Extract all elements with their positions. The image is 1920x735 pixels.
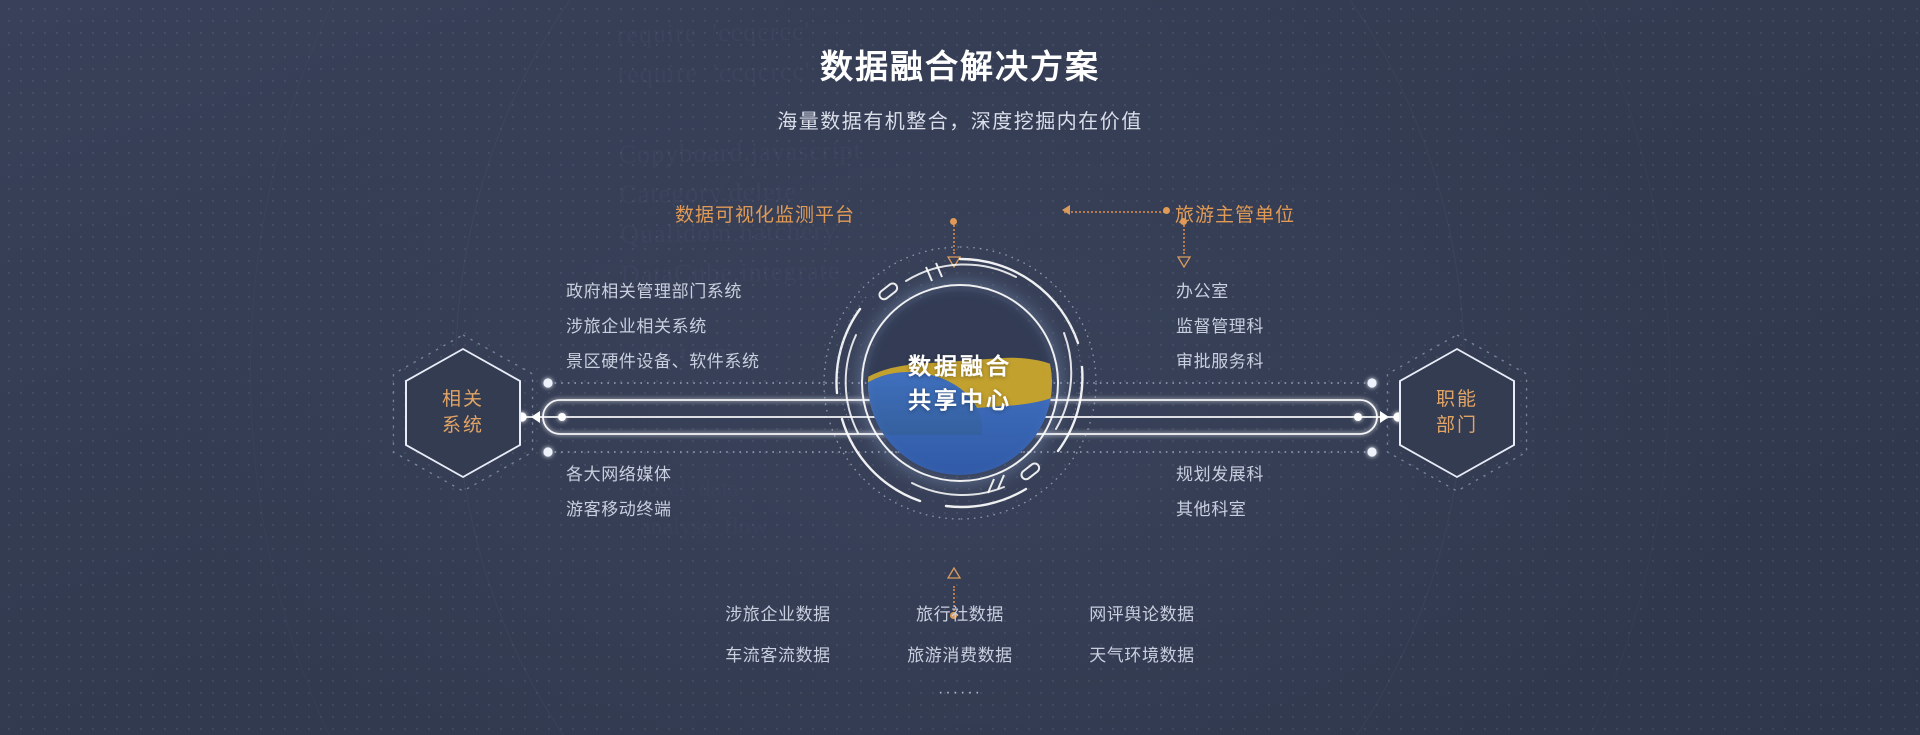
bottom-ellipsis: ······ xyxy=(938,684,982,702)
hexagon-right-line2: 部门 xyxy=(1436,413,1478,439)
bottom-cell-r1c3: 网评舆论数据 xyxy=(1077,600,1207,625)
bottom-cell-r1c2: 旅行社数据 xyxy=(895,600,1025,625)
hexagon-right-label: 职能 部门 xyxy=(1399,348,1515,478)
core-label-line2: 共享中心 xyxy=(908,383,1012,417)
hexagon-left-label: 相关 系统 xyxy=(405,348,521,478)
right-lower-item-2: 其他科室 xyxy=(1176,495,1246,520)
page-subtitle: 海量数据有机整合，深度挖掘内在价值 xyxy=(0,105,1920,134)
hexagon-related-systems[interactable]: 相关 系统 xyxy=(405,348,521,478)
left-upper-item-1: 政府相关管理部门系统 xyxy=(566,277,742,302)
hexagon-functional-departments[interactable]: 职能 部门 xyxy=(1399,348,1515,478)
bottom-cell-r1c1: 涉旅企业数据 xyxy=(713,600,843,625)
orange-horizontal-connector xyxy=(1064,211,1168,213)
core-label: 数据融合 共享中心 xyxy=(820,243,1100,523)
bottom-data-grid: 涉旅企业数据 旅行社数据 网评舆论数据 车流客流数据 旅游消费数据 天气环境数据… xyxy=(0,600,1920,702)
bottom-cell-r2c2: 旅游消费数据 xyxy=(895,641,1025,666)
triangle-down-icon xyxy=(1177,256,1191,268)
hexagon-left-line2: 系统 xyxy=(442,413,484,439)
bottom-cell-r2c3: 天气环境数据 xyxy=(1077,641,1207,666)
left-lower-item-1: 各大网络媒体 xyxy=(566,460,672,485)
core-label-line1: 数据融合 xyxy=(908,349,1012,383)
core-hub[interactable]: 数据融合 共享中心 xyxy=(820,243,1100,523)
node-dot-icon xyxy=(1163,207,1170,214)
right-lower-item-1: 规划发展科 xyxy=(1176,460,1264,485)
orange-dropper-right xyxy=(1183,222,1185,254)
hexagon-left-line1: 相关 xyxy=(442,387,484,413)
label-tourism-authority[interactable]: 旅游主管单位 xyxy=(1175,200,1295,227)
bottom-row-2: 车流客流数据 旅游消费数据 天气环境数据 xyxy=(713,641,1207,666)
node-dot-icon xyxy=(1180,218,1187,225)
left-lower-item-2: 游客移动终端 xyxy=(566,495,672,520)
right-upper-item-3: 审批服务科 xyxy=(1176,347,1264,372)
triangle-left-icon xyxy=(1062,205,1070,215)
infographic-stage: require 'ccqcrcc' require 'ccqcrcc' Copy… xyxy=(0,0,1920,735)
hexagon-right-line1: 职能 xyxy=(1436,387,1478,413)
right-upper-item-2: 监督管理科 xyxy=(1176,312,1264,337)
label-visualization-platform[interactable]: 数据可视化监测平台 xyxy=(675,200,855,227)
right-upper-item-1: 办公室 xyxy=(1176,277,1229,302)
bottom-row-1: 涉旅企业数据 旅行社数据 网评舆论数据 xyxy=(713,600,1207,625)
page-title: 数据融合解决方案 xyxy=(0,40,1920,88)
node-dot-icon xyxy=(950,218,957,225)
left-upper-item-3: 景区硬件设备、软件系统 xyxy=(566,347,760,372)
triangle-up-icon xyxy=(947,567,961,579)
bottom-cell-r2c1: 车流客流数据 xyxy=(713,641,843,666)
left-upper-item-2: 涉旅企业相关系统 xyxy=(566,312,707,337)
